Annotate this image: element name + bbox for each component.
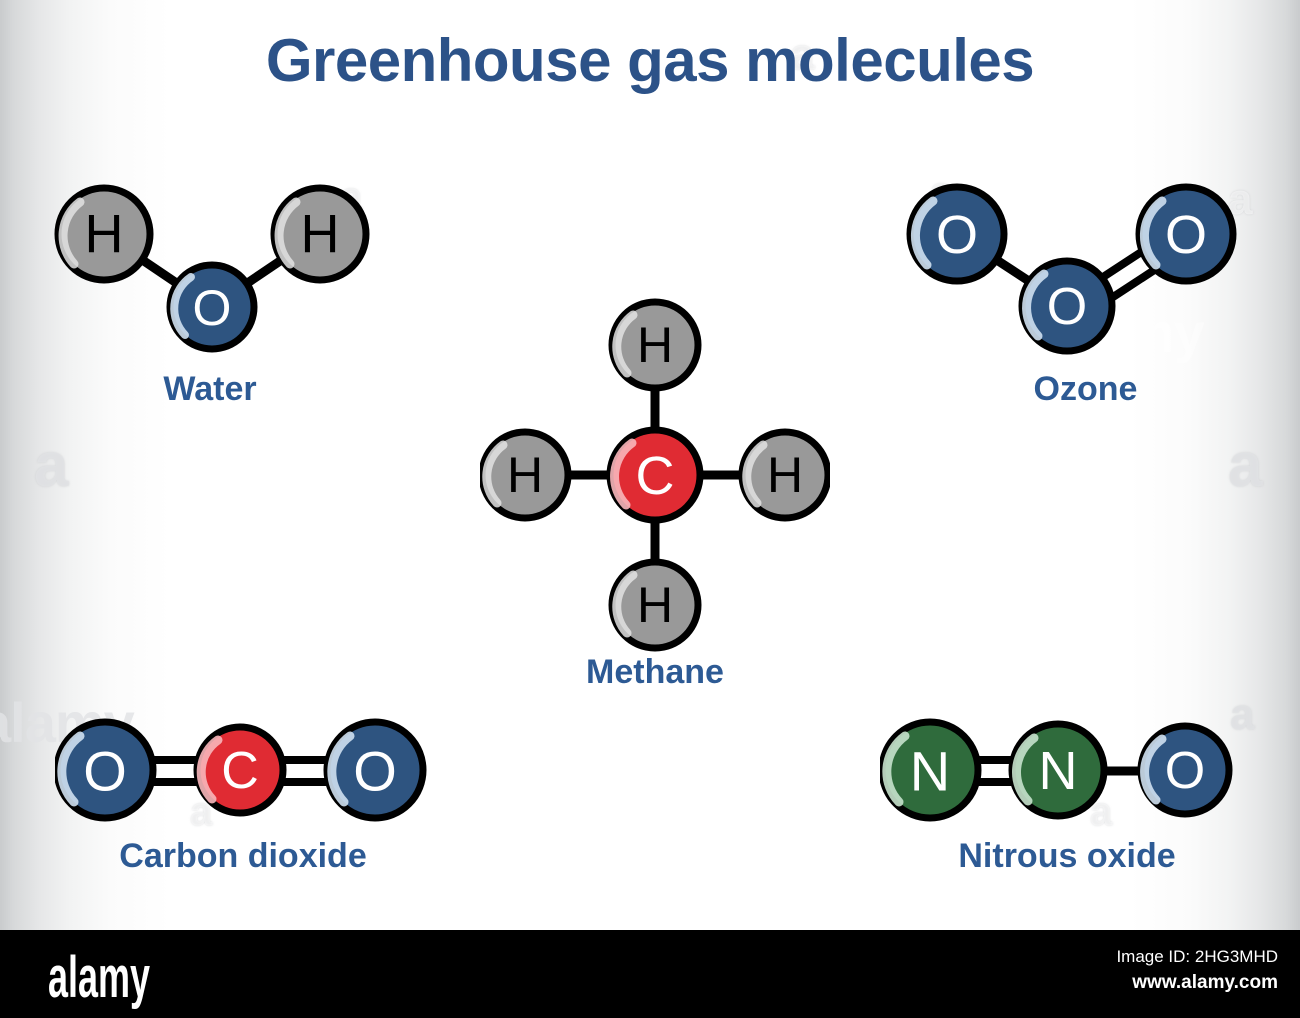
svg-text:H: H [301, 204, 340, 264]
atom-oxygen-left: O [57, 722, 153, 818]
atom-hydrogen-right: H [742, 432, 828, 518]
atom-hydrogen-right: H [274, 188, 366, 280]
methane-structure-svg: H H H H [480, 295, 830, 655]
atom-carbon-center: C [610, 430, 700, 520]
atom-oxygen-left: O [910, 187, 1004, 281]
atom-oxygen-center: O [1022, 261, 1112, 351]
alamy-logo: alamy [48, 944, 150, 1011]
atom-hydrogen-top: H [612, 302, 698, 388]
svg-text:O: O [1165, 205, 1207, 265]
svg-text:O: O [193, 280, 232, 336]
molecule-nitrous-oxide: N N O Nitrous oxide [880, 715, 1270, 905]
n2o-structure-svg: N N O [880, 715, 1270, 835]
svg-text:H: H [637, 577, 673, 633]
svg-text:O: O [1047, 278, 1087, 336]
molecule-carbon-dioxide: O C O Carbon dioxide [55, 715, 455, 905]
svg-text:C: C [221, 742, 259, 800]
atom-nitrogen-left: N [882, 722, 978, 818]
svg-text:O: O [83, 740, 127, 803]
watermark-letter-right: a [1228, 430, 1262, 501]
atom-oxygen-center: O [170, 265, 254, 349]
molecule-label-ozone: Ozone [913, 370, 1258, 409]
image-id-text: Image ID: 2HG3MHD [1116, 944, 1278, 970]
molecule-water: H O H Water [52, 172, 392, 422]
atom-hydrogen-left: H [482, 432, 568, 518]
svg-text:H: H [767, 447, 803, 503]
svg-text:O: O [1165, 742, 1205, 800]
svg-text:N: N [1039, 741, 1078, 801]
svg-text:C: C [636, 446, 675, 506]
atom-oxygen-right: O [327, 722, 423, 818]
atom-oxygen-right: O [1139, 187, 1233, 281]
molecule-label-carbon-dioxide: Carbon dioxide [43, 837, 443, 876]
atom-hydrogen-left: H [58, 188, 150, 280]
ozone-structure-svg: O O O [905, 172, 1250, 372]
molecule-ozone: O O O Ozone [905, 172, 1250, 422]
page-title: Greenhouse gas molecules [0, 26, 1300, 95]
molecule-label-nitrous-oxide: Nitrous oxide [872, 837, 1262, 876]
co2-structure-svg: O C O [55, 715, 455, 835]
atom-carbon-center: C [197, 727, 283, 813]
molecule-label-water: Water [40, 370, 380, 409]
greenhouse-gas-molecules-image: a a a a a a alamy alamy alamy alamy a a … [0, 0, 1300, 1018]
atom-nitrogen-center: N [1012, 724, 1104, 816]
illustration-canvas: a a a a a a alamy alamy alamy alamy a a … [0, 0, 1300, 930]
watermark-footer-bar: alamy Image ID: 2HG3MHD www.alamy.com [0, 930, 1300, 1018]
svg-text:O: O [353, 740, 397, 803]
atom-oxygen-right: O [1141, 726, 1229, 814]
svg-text:H: H [85, 204, 124, 264]
watermark-letter-left: a [34, 430, 68, 501]
water-structure-svg: H O H [52, 172, 392, 372]
svg-text:H: H [507, 447, 543, 503]
footer-meta: Image ID: 2HG3MHD www.alamy.com [1116, 944, 1278, 996]
site-url-text: www.alamy.com [1116, 970, 1278, 996]
svg-text:H: H [637, 317, 673, 373]
svg-text:N: N [910, 740, 950, 803]
atom-hydrogen-bottom: H [612, 562, 698, 648]
svg-text:O: O [936, 205, 978, 265]
molecule-methane: H H H H [480, 295, 830, 715]
molecule-label-methane: Methane [480, 653, 830, 692]
